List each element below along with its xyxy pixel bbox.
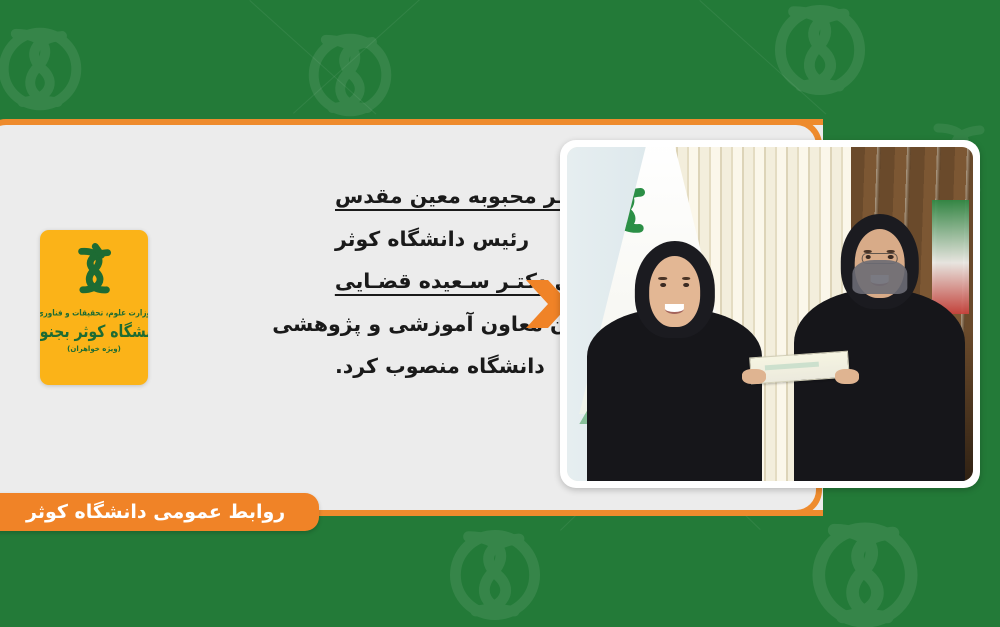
logo-university-text: دانشگاه کوثر بجنورد	[40, 322, 148, 341]
kowsar-monogram-watermark-icon	[790, 505, 940, 627]
document-green-band	[764, 361, 819, 370]
logo-sub-text: (ویژه خواهران)	[67, 345, 121, 353]
logo-ministry-text: وزارت علوم، تحقیقات و فناوری	[40, 307, 148, 317]
photo-person-right	[794, 214, 965, 481]
photo-card: ﮐﻮﺛﺮ	[560, 140, 980, 488]
person-left-brow	[659, 277, 667, 280]
ribbon-label: روابط عمومی دانشگاه کوثر	[26, 501, 285, 523]
person-left-smile	[665, 304, 683, 314]
kowsar-monogram-watermark-icon	[755, 0, 885, 110]
person-left-eye	[683, 283, 689, 287]
photo-person-left	[587, 241, 762, 481]
kowsar-monogram-watermark-icon	[430, 515, 560, 627]
event-photo: ﮐﻮﺛﺮ	[567, 147, 973, 481]
kowsar-logo-icon	[63, 239, 125, 301]
person-right-scarf	[852, 260, 907, 294]
person-left-brow	[682, 277, 690, 280]
person-right-head	[840, 214, 918, 310]
hand-right	[835, 369, 859, 384]
poster-canvas: وزارت علوم، تحقیقات و فناوری دانشگاه کوث…	[0, 0, 1000, 627]
kowsar-monogram-watermark-icon	[0, 14, 100, 124]
hand-left	[742, 369, 766, 384]
university-logo-badge: وزارت علوم، تحقیقات و فناوری دانشگاه کوث…	[40, 230, 148, 385]
kowsar-monogram-watermark-icon	[290, 20, 410, 130]
person-left-eye	[660, 283, 666, 287]
public-relations-ribbon: روابط عمومی دانشگاه کوثر	[0, 493, 319, 531]
person-left-face	[649, 256, 700, 327]
person-left-head	[634, 241, 714, 339]
person-right-body	[794, 289, 965, 481]
announcement-line-1-text: دکتـر محبوبه معین مقدس	[335, 184, 594, 208]
